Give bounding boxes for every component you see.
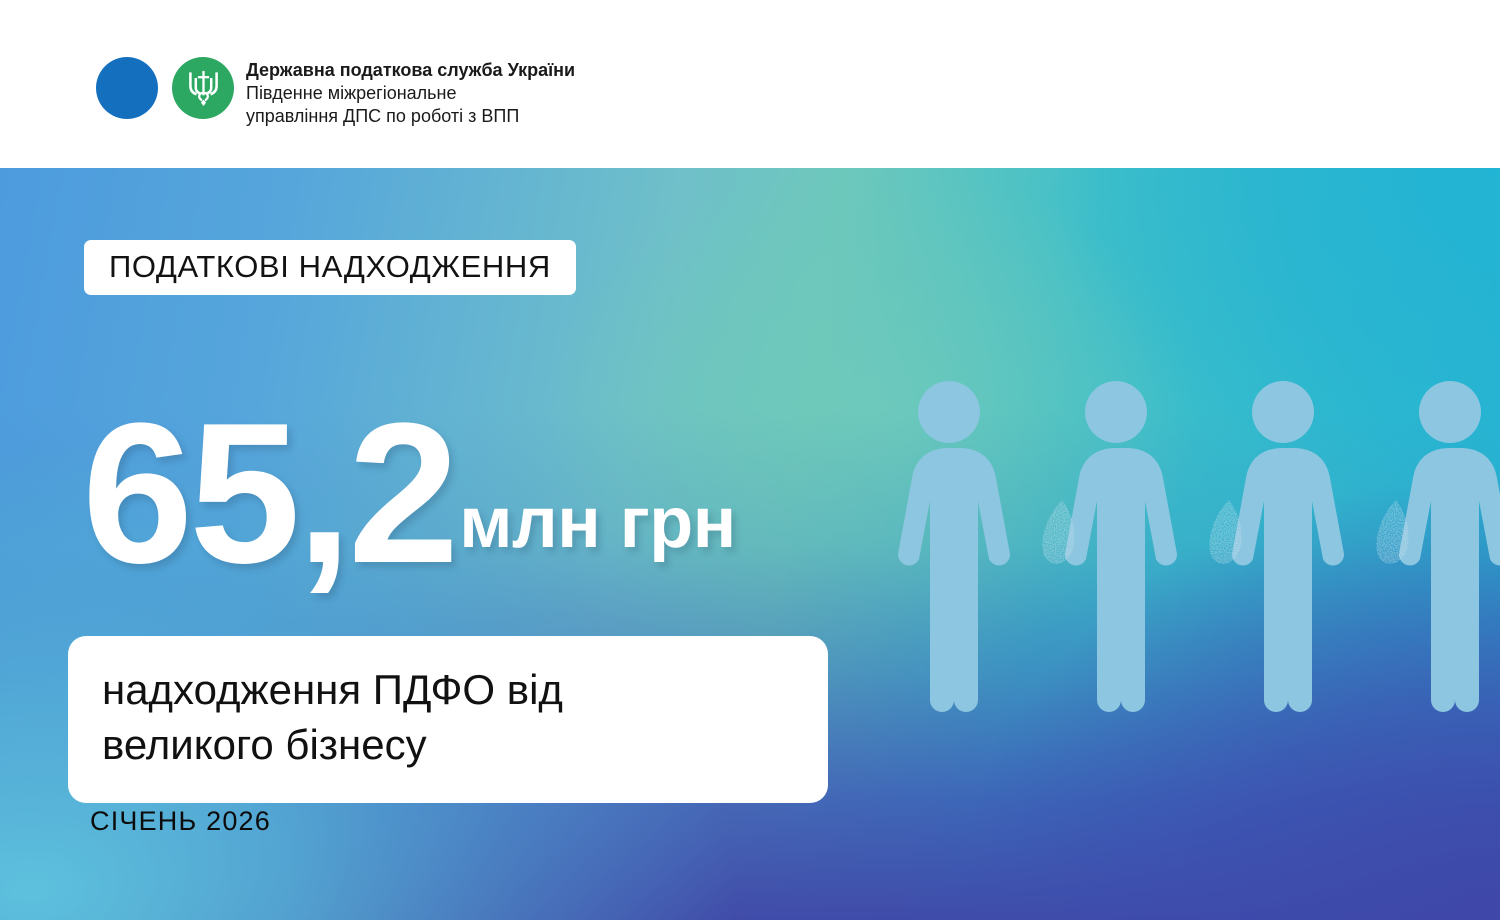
agency-name-line-2: Південне міжрегіональне — [246, 82, 946, 105]
person-figure-3 — [1232, 381, 1344, 712]
ukraine-trident-icon — [187, 70, 220, 107]
agency-name-line-3: управління ДПС по роботі з ВПП — [246, 105, 946, 128]
hand-join-3 — [1376, 500, 1408, 564]
description-line-2: великого бізнесу — [102, 717, 794, 772]
agency-logo — [96, 57, 236, 119]
person-figure-4 — [1399, 381, 1500, 712]
category-badge-label: ПОДАТКОВІ НАДХОДЖЕННЯ — [109, 251, 551, 282]
description-card: надходження ПДФО від великого бізнесу — [68, 636, 828, 803]
person-figure-1 — [898, 381, 1010, 712]
headline-figure-value: 65,2 — [82, 412, 455, 576]
header-bar: Державна податкова служба України Півден… — [0, 0, 1500, 168]
hand-join-1 — [1042, 500, 1074, 564]
infographic-poster: Державна податкова служба України Півден… — [0, 0, 1500, 920]
description-line-1: надходження ПДФО від — [102, 662, 794, 717]
person-figure-2 — [1065, 381, 1177, 712]
people-illustration — [890, 378, 1500, 728]
headline-figure: 65,2 млн грн — [82, 412, 736, 576]
headline-figure-unit: млн грн — [459, 487, 735, 559]
agency-name-line-1: Державна податкова служба України — [246, 59, 946, 82]
period-label: СІЧЕНЬ 2026 — [90, 806, 271, 837]
logo-blue-circle-icon — [96, 57, 158, 119]
category-badge: ПОДАТКОВІ НАДХОДЖЕННЯ — [84, 240, 576, 295]
hand-join-2 — [1209, 500, 1241, 564]
agency-name-block: Державна податкова служба України Півден… — [246, 59, 946, 128]
